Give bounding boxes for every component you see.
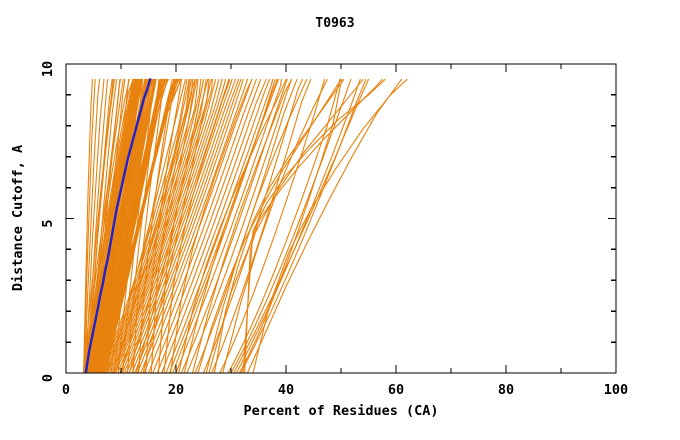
y-tick-label: 10 bbox=[40, 61, 56, 77]
x-tick-label: 20 bbox=[168, 382, 184, 398]
series-line bbox=[253, 79, 407, 373]
y-tick-label: 0 bbox=[40, 374, 56, 382]
series-line bbox=[241, 79, 366, 373]
data-series-group bbox=[84, 79, 407, 373]
page-title: T0963 bbox=[315, 16, 354, 31]
x-tick-label: 40 bbox=[278, 382, 294, 398]
distance-cutoff-plot: T0963 0204060801000510 Percent of Residu… bbox=[0, 0, 680, 440]
series-line bbox=[248, 79, 402, 373]
series-line bbox=[239, 79, 341, 373]
y-axis-title: Distance Cutoff, A bbox=[10, 145, 26, 291]
y-tick-label: 5 bbox=[40, 219, 56, 227]
x-axis-title: Percent of Residues (CA) bbox=[243, 403, 438, 419]
x-tick-label: 60 bbox=[388, 382, 404, 398]
x-tick-label: 80 bbox=[498, 382, 514, 398]
x-tick-label: 0 bbox=[62, 382, 70, 398]
x-tick-label: 100 bbox=[604, 382, 628, 398]
chart-canvas: T0963 0204060801000510 Percent of Residu… bbox=[0, 0, 680, 440]
